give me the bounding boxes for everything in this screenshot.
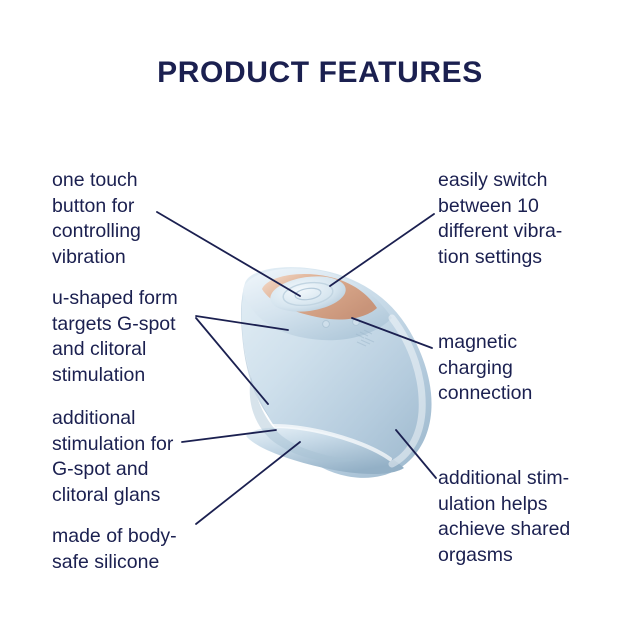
feature-magnetic-charging: magnetic charging connection [438, 330, 638, 407]
product-features-infographic: PRODUCT FEATURES [0, 0, 640, 640]
feature-ten-vibration-settings: easily switch between 10 different vibra… [438, 168, 638, 270]
control-dot-plus[interactable] [353, 319, 360, 326]
control-dot-minus[interactable] [323, 321, 330, 328]
feature-shared-orgasms: additional stim- ulation helps achieve s… [438, 466, 638, 568]
product-body [241, 267, 431, 478]
feature-u-shaped-form: u-shaped form targets G-spot and clitora… [52, 286, 242, 388]
feature-one-touch-button: one touch button for controlling vibrati… [52, 168, 242, 270]
feature-additional-stimulation-gspot: additional stimulation for G-spot and cl… [52, 406, 242, 508]
feature-body-safe-silicone: made of body- safe silicone [52, 524, 242, 575]
